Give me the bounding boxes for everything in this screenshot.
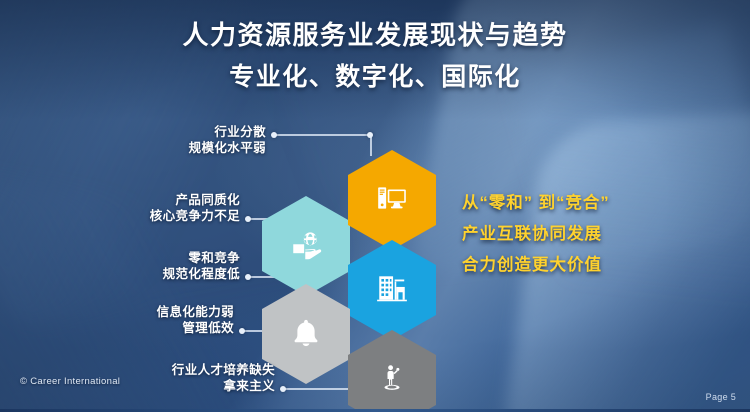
label-1-line-1: 行业分散 — [104, 124, 266, 140]
label-1-line-2: 规模化水平弱 — [104, 140, 266, 156]
page-title: 人力资源服务业发展现状与趋势 专业化、数字化、国际化 — [0, 18, 750, 94]
copyright-text: © Career International — [20, 376, 120, 387]
monitor-icon — [375, 181, 409, 220]
connector-2-dot-left — [245, 216, 251, 222]
label-3-line-2: 规范化程度低 — [90, 266, 240, 282]
hexagon-person[interactable] — [348, 330, 436, 412]
label-product-homogenization: 产品同质化 核心竞争力不足 — [90, 192, 240, 224]
hexagon-bell[interactable] — [262, 284, 350, 384]
right-text-line-1: 从“零和” 到“竞合” — [462, 188, 610, 219]
label-4-line-2: 管理低效 — [84, 320, 234, 336]
building-icon — [375, 271, 409, 310]
label-2-line-1: 产品同质化 — [90, 192, 240, 208]
label-2-line-2: 核心竞争力不足 — [90, 208, 240, 224]
connector-1-dot-left — [271, 132, 277, 138]
hexagon-monitor[interactable] — [348, 150, 436, 250]
label-zero-sum-competition: 零和竞争 规范化程度低 — [90, 250, 240, 282]
title-main-line: 人力资源服务业发展现状与趋势 — [0, 18, 750, 52]
hexagon-building[interactable] — [348, 240, 436, 340]
right-text-line-3: 合力创造更大价值 — [462, 250, 610, 281]
right-text-line-2: 产业互联协同发展 — [462, 219, 610, 250]
page-number: Page 5 — [706, 392, 736, 402]
label-5-line-1: 行业人才培养缺失 — [110, 362, 275, 378]
title-sub-line: 专业化、数字化、国际化 — [0, 60, 750, 94]
slide-canvas: 人力资源服务业发展现状与趋势 专业化、数字化、国际化 行业分散 规模化水平弱 产… — [0, 0, 750, 412]
connector-3-dot-left — [245, 274, 251, 280]
hexagon-globe[interactable] — [262, 196, 350, 296]
right-message-block: 从“零和” 到“竞合” 产业互联协同发展 合力创造更大价值 — [462, 188, 610, 281]
connector-1-horizontal — [274, 134, 370, 136]
connector-5-dot-left — [280, 386, 286, 392]
label-5-line-2: 拿来主义 — [110, 378, 275, 394]
label-3-line-1: 零和竞争 — [90, 250, 240, 266]
hand-globe-icon — [289, 227, 323, 266]
person-presenter-icon — [377, 363, 407, 398]
label-4-line-1: 信息化能力弱 — [84, 304, 234, 320]
bell-icon — [291, 317, 321, 352]
connector-1 — [274, 134, 374, 156]
connector-1-vertical — [370, 136, 372, 156]
connector-4-dot-left — [239, 328, 245, 334]
label-talent-training-gap: 行业人才培养缺失 拿来主义 — [110, 362, 275, 394]
label-industry-fragmentation: 行业分散 规模化水平弱 — [104, 124, 266, 156]
label-weak-informatization: 信息化能力弱 管理低效 — [84, 304, 234, 336]
